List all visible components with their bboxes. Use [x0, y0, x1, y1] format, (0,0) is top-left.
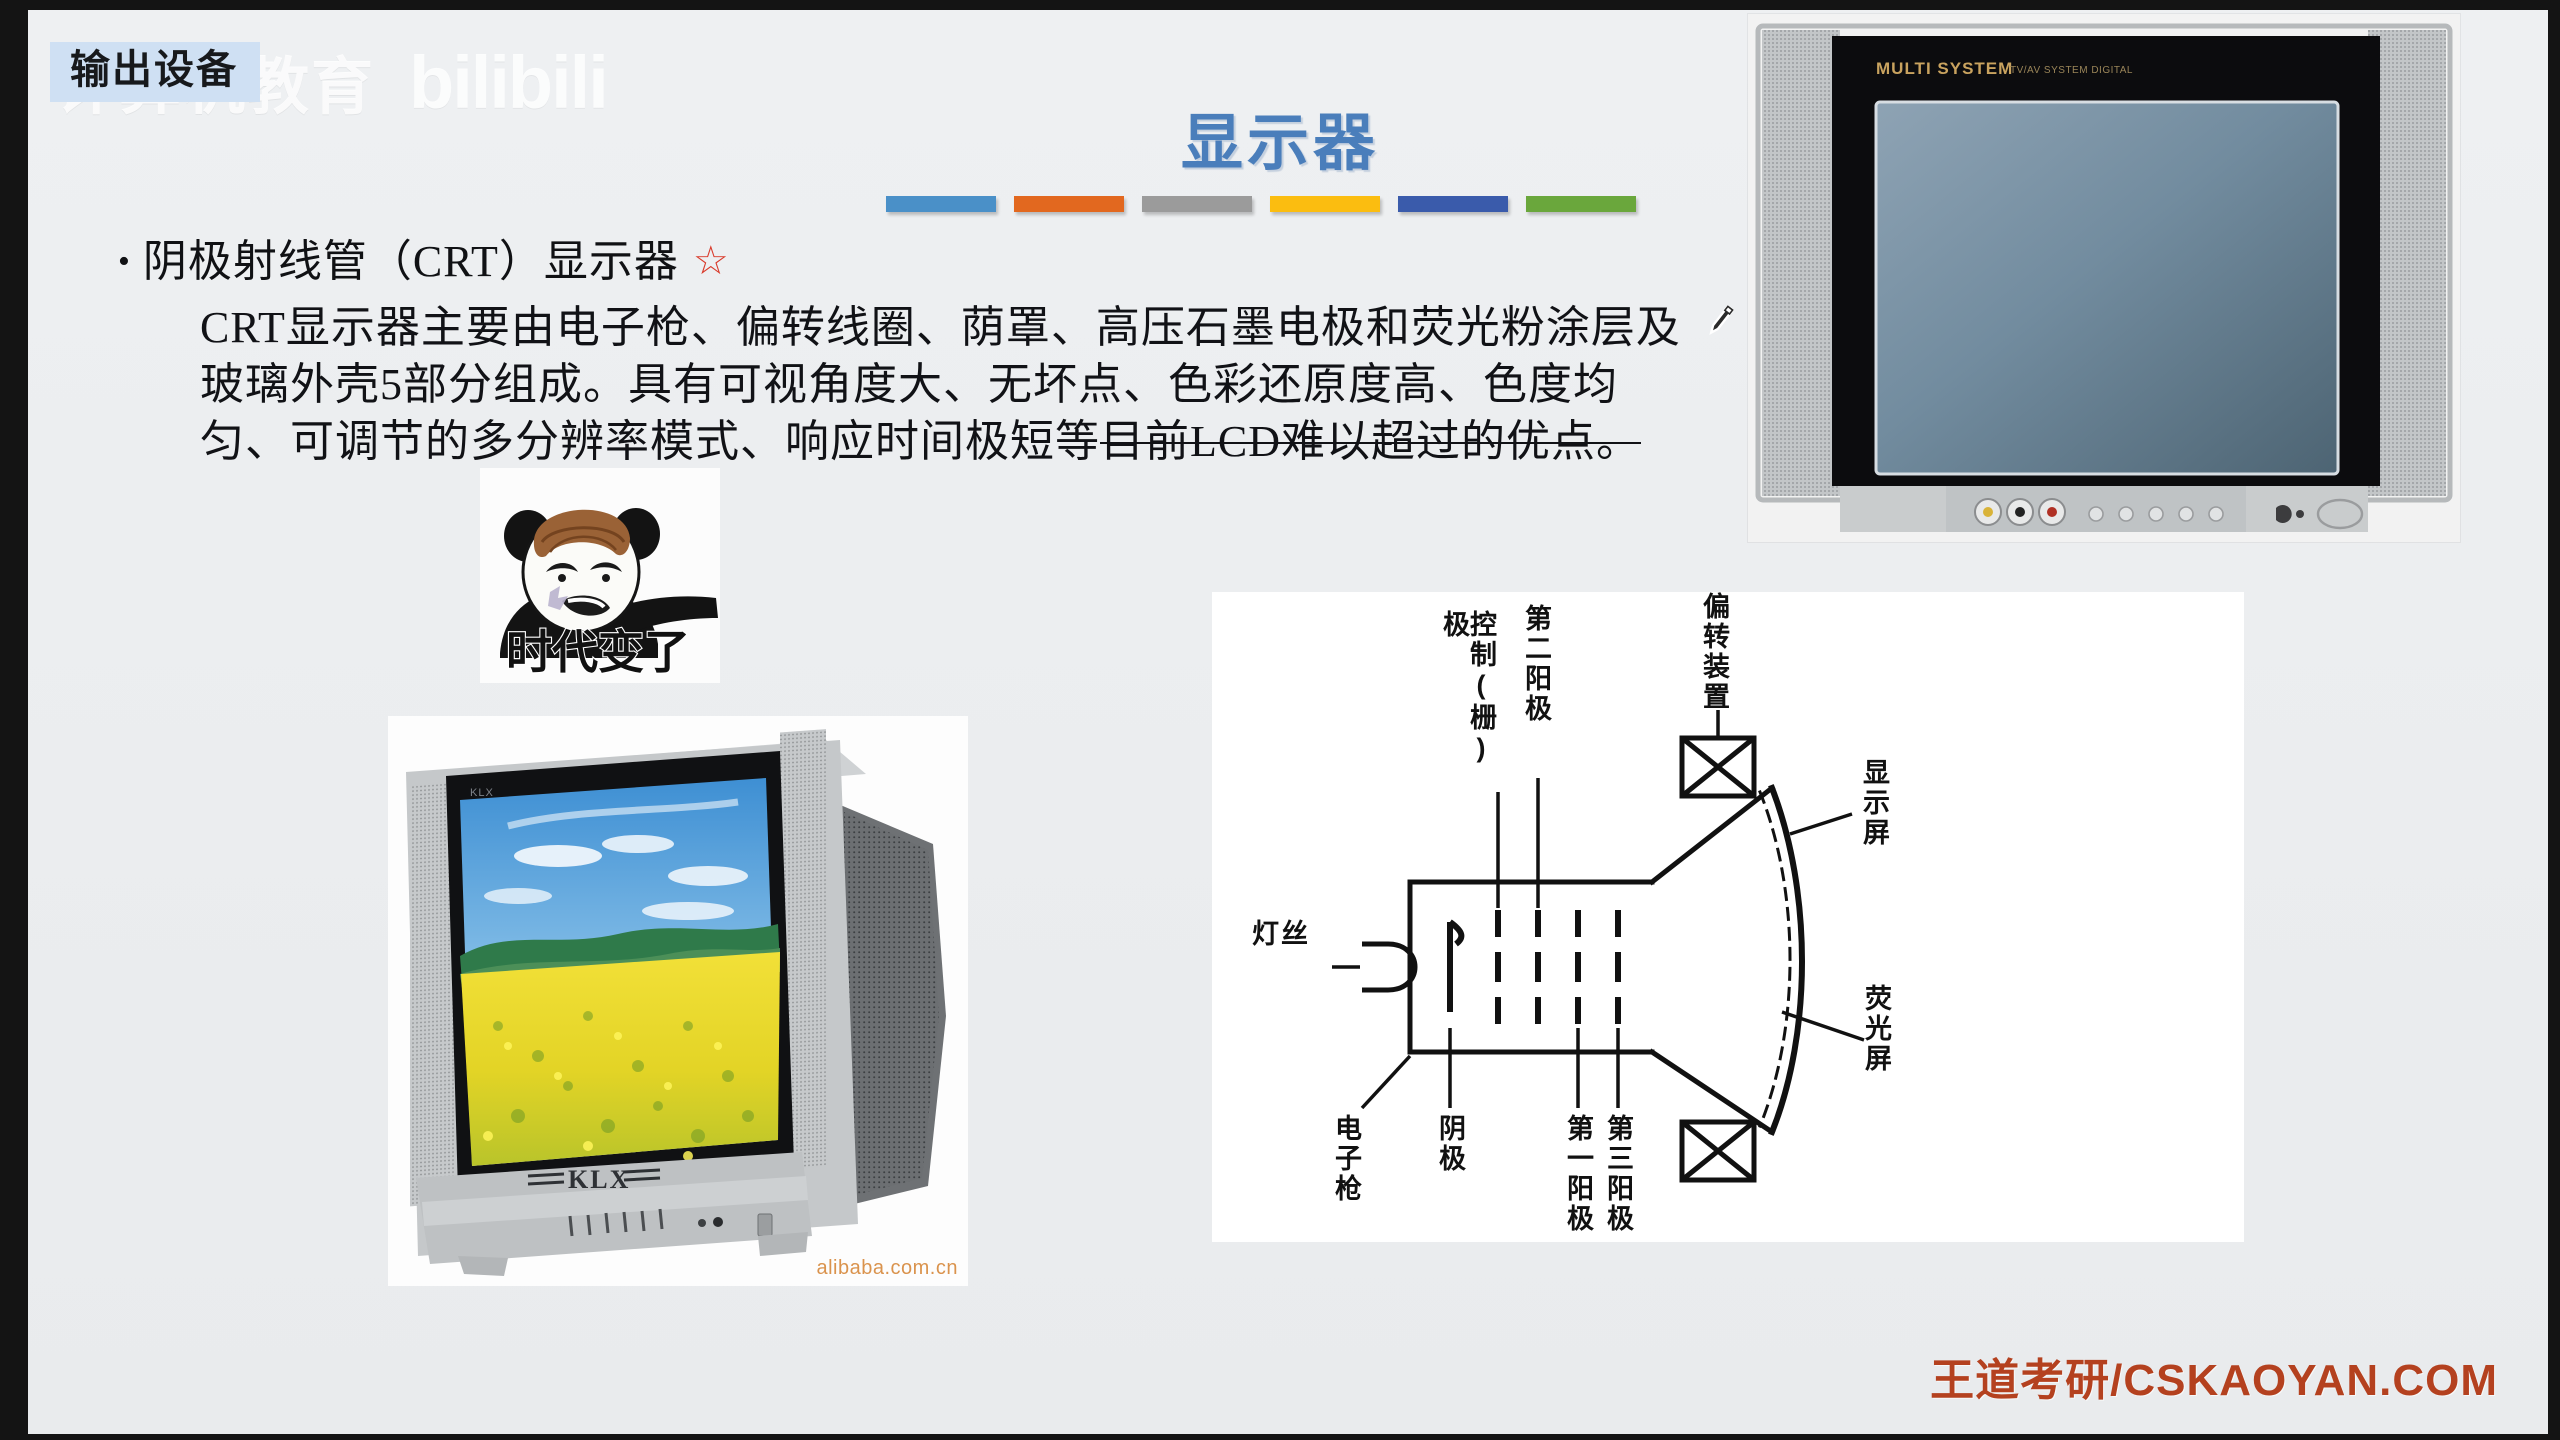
viewer-edge-top: [0, 0, 2560, 10]
label-electron-gun: 电子枪: [1332, 1114, 1359, 1234]
svg-text:KLX: KLX: [470, 787, 494, 799]
topic-label: 输出设备: [70, 48, 238, 92]
label-fluorescent-screen: 荧光屏: [1862, 984, 1889, 1114]
footer-brand: 王道考研/CSKAOYAN.COM: [1930, 1344, 2498, 1408]
label-display-screen: 显示屏: [1860, 758, 1887, 888]
accent-bar-2: [1014, 196, 1124, 212]
accent-bar-row: [886, 196, 1636, 212]
slide-body: • 阴极射线管（CRT）显示器 ☆ CRT显示器主要由电子枪、偏转线圈、荫罩、高…: [118, 236, 1718, 471]
svg-text:KLX: KLX: [568, 1165, 630, 1194]
viewer-edge-left: [0, 0, 28, 1440]
label-cathode: 阴极: [1436, 1114, 1463, 1204]
meme-caption: 时代变了: [506, 626, 690, 678]
star-icon: ☆: [693, 238, 730, 284]
label-deflection-device: 偏转装置: [1700, 592, 1727, 752]
label-first-anode: 第一阳极: [1564, 1114, 1591, 1264]
accent-bar-4: [1270, 196, 1380, 212]
panda-meme-image: 时代变了: [480, 468, 720, 683]
pen-cursor-icon: [1696, 298, 1742, 349]
accent-bar-3: [1142, 196, 1252, 212]
svg-text:TV/AV SYSTEM DIGITAL: TV/AV SYSTEM DIGITAL: [2010, 65, 2133, 76]
bullet-item: • 阴极射线管（CRT）显示器 ☆: [118, 236, 1718, 287]
accent-bar-1: [886, 196, 996, 212]
label-control-grid: 控制(栅)极: [1440, 610, 1494, 790]
label-second-anode: 第二阳极: [1522, 604, 1549, 764]
paragraph-strikethrough: 目前LCD难以超过的优点。: [1100, 417, 1641, 466]
accent-bar-6: [1526, 196, 1636, 212]
crt-schematic-diagram: 控制(栅)极 第二阳极 偏转装置 灯丝 电子枪 阴极 第一阳极 第三阳极 显示屏…: [1212, 592, 2244, 1242]
viewer-edge-bottom: [0, 1434, 2560, 1440]
crt-tv-photo-bottom: KLX KLX alibaba: [388, 716, 968, 1286]
bullet-marker-icon: •: [118, 245, 131, 279]
body-paragraph: CRT显示器主要由电子枪、偏转线圈、荫罩、高压石墨电极和荧光粉涂层及玻璃外壳5部…: [200, 299, 1700, 471]
label-third-anode: 第三阳极: [1604, 1114, 1631, 1264]
viewer-edge-right: [2548, 0, 2560, 1440]
tv-top-brand-text: MULTI SYSTEM: [1876, 59, 2013, 78]
label-filament: 灯丝: [1252, 912, 1310, 951]
accent-bar-5: [1398, 196, 1508, 212]
alibaba-watermark: alibaba.com.cn: [816, 1257, 958, 1280]
crt-tv-photo-top: MULTI SYSTEM TV/AV SYSTEM DIGITAL: [1748, 14, 2460, 542]
presentation-slide: 计算机教育bilibili 输出设备 显示器 • 阴极射线管（CRT）显示器 ☆…: [0, 0, 2560, 1440]
bullet-label: 阴极射线管（CRT）显示器: [143, 236, 679, 287]
